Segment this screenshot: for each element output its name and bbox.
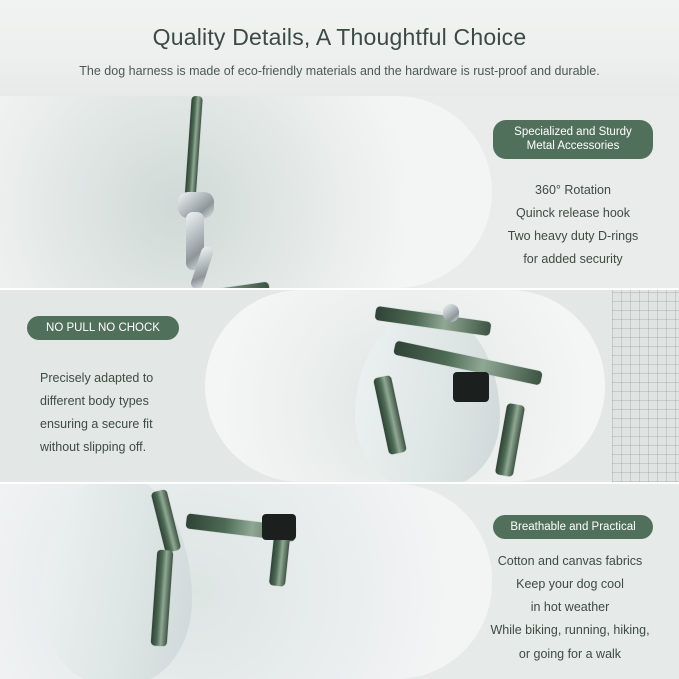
page-subtitle: The dog harness is made of eco-friendly … <box>0 64 679 78</box>
harness-buckle <box>453 372 489 402</box>
pill-no-pull-no-chock: NO PULL NO CHOCK <box>27 316 179 340</box>
pill-breathable-practical: Breathable and Practical <box>493 515 653 539</box>
metal-bell <box>443 304 459 322</box>
product-photo-metal-hardware <box>0 96 492 288</box>
background-grid-panel <box>612 290 679 482</box>
product-detail-page: Quality Details, A Thoughtful Choice The… <box>0 0 679 679</box>
product-photo-mannequin-fit <box>205 290 605 482</box>
section-no-pull-no-chock: NO PULL NO CHOCK Precisely adapted to di… <box>0 290 679 482</box>
section-breathable-practical: Breathable and Practical Cotton and canv… <box>0 484 679 679</box>
text-breathable-practical: Cotton and canvas fabrics Keep your dog … <box>440 550 679 666</box>
product-photo-chest-strap <box>0 484 492 679</box>
harness-strap <box>184 96 203 204</box>
harness-buckle <box>262 514 296 540</box>
header-banner: Quality Details, A Thoughtful Choice The… <box>0 0 679 96</box>
text-metal-accessories: 360° Rotation Quinck release hook Two he… <box>453 179 679 272</box>
pill-metal-accessories: Specialized and Sturdy Metal Accessories <box>493 120 653 159</box>
text-no-pull-no-chock: Precisely adapted to different body type… <box>40 367 240 460</box>
page-title: Quality Details, A Thoughtful Choice <box>0 24 679 51</box>
section-metal-accessories: Specialized and Sturdy Metal Accessories… <box>0 96 679 288</box>
